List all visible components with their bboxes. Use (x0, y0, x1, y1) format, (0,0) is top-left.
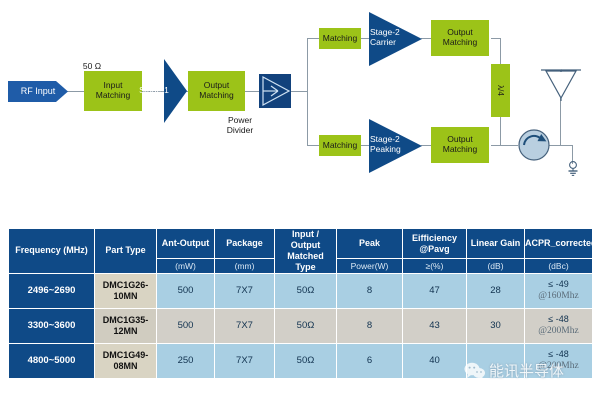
stage2-carrier-amplifier (368, 11, 424, 67)
ground-block (566, 160, 580, 178)
output-matching-carrier-label: Output Matching (443, 28, 478, 47)
table-row: 3300~3600 DMC1G35-12MN 500 7X7 50Ω 8 43 … (9, 308, 593, 343)
output-matching-peaking-label: Output Matching (443, 135, 478, 154)
output-matching-carrier-block: Output Matching (431, 20, 489, 56)
th-part-type: Part Type (95, 229, 157, 274)
header-row-main: Frequency (MHz) Part Type Ant-Output Pac… (9, 229, 593, 259)
stage2-carrier-triangle-icon (368, 11, 424, 67)
cell-part-type: DMC1G35-12MN (95, 308, 157, 343)
table-row: 2496~2690 DMC1G26-10MN 500 7X7 50Ω 8 47 … (9, 273, 593, 308)
power-divider-block (259, 74, 291, 108)
th-acpr: ACPR_corrected (525, 229, 593, 259)
th-unit-acpr: (dBc) (525, 259, 593, 274)
matching-bottom-label: Matching (323, 141, 358, 151)
cell-package: 7X7 (215, 343, 275, 378)
wire-outmatch-to-divider (244, 91, 260, 92)
cell-peak-power: 6 (337, 343, 403, 378)
power-divider-icon (259, 74, 291, 108)
acpr-offset: @160Mhz (525, 291, 592, 303)
th-peak: Peak (337, 229, 403, 259)
acpr-value: ≤ -48 (525, 349, 592, 360)
wire-quarter-bottom-stub (500, 116, 501, 145)
th-unit-peak: Power(W) (337, 259, 403, 274)
cell-matched-type: 50Ω (275, 273, 337, 308)
stage1-triangle-icon (120, 58, 188, 124)
antenna-icon (540, 68, 582, 102)
wire-split-bottom (307, 145, 319, 146)
cell-frequency: 4800~5000 (9, 343, 95, 378)
rf-input-label: RF Input (21, 86, 56, 96)
antenna-block (540, 68, 582, 102)
output-matching-stage1-block: Output Matching (188, 71, 245, 111)
block-diagram: RF Input 50 Ω Input Matching Stage-1 Out… (0, 0, 600, 218)
cell-package: 7X7 (215, 273, 275, 308)
wire-split-top (307, 38, 319, 39)
cell-acpr: ≤ -49 @160Mhz (525, 273, 593, 308)
matching-top-label: Matching (323, 34, 358, 44)
cell-efficiency: 40 (403, 343, 467, 378)
cell-linear-gain (467, 343, 525, 378)
stage2-peaking-triangle-icon (368, 118, 424, 174)
cell-part-type: DMC1G26-10MN (95, 273, 157, 308)
quarter-wave-label: λ/4 (496, 85, 505, 96)
wire-outmatchpeak-to-circulator (491, 145, 518, 146)
specs-table-wrapper: Frequency (MHz) Part Type Ant-Output Pac… (8, 228, 592, 379)
th-linear-gain: Linear Gain (467, 229, 525, 259)
stage2-peaking-amplifier (368, 118, 424, 174)
cell-ant-output: 250 (157, 343, 215, 378)
th-frequency: Frequency (MHz) (9, 229, 95, 274)
cell-acpr: ≤ -48 @200Mhz (525, 343, 593, 378)
output-matching-peaking-block: Output Matching (431, 127, 489, 163)
circulator-icon (517, 128, 551, 162)
quarter-wave-block: λ/4 (491, 64, 510, 117)
cell-peak-power: 8 (337, 308, 403, 343)
cell-frequency: 2496~2690 (9, 273, 95, 308)
cell-matched-type: 50Ω (275, 343, 337, 378)
th-unit-linear-gain: (dB) (467, 259, 525, 274)
stage1-amplifier (120, 58, 188, 124)
wire-quarter-top-stub (500, 38, 501, 64)
th-unit-ant-output: (mW) (157, 259, 215, 274)
acpr-value: ≤ -49 (525, 279, 592, 290)
table-body: 2496~2690 DMC1G26-10MN 500 7X7 50Ω 8 47 … (9, 273, 593, 378)
th-ant-output: Ant-Output (157, 229, 215, 259)
cell-frequency: 3300~3600 (9, 308, 95, 343)
wire-divider-out (290, 91, 308, 92)
cell-efficiency: 47 (403, 273, 467, 308)
acpr-offset: @200Mhz (525, 326, 592, 338)
th-unit-package: (mm) (215, 259, 275, 274)
cell-acpr: ≤ -48 @200Mhz (525, 308, 593, 343)
cell-efficiency: 43 (403, 308, 467, 343)
cell-peak-power: 8 (337, 273, 403, 308)
power-divider-label: Power Divider (195, 116, 285, 136)
table-row: 4800~5000 DMC1G49-08MN 250 7X7 50Ω 6 40 … (9, 343, 593, 378)
acpr-offset: @200Mhz (525, 361, 592, 373)
rf-input-block: RF Input (8, 81, 68, 102)
cell-package: 7X7 (215, 308, 275, 343)
cell-part-type: DMC1G49-08MN (95, 343, 157, 378)
th-matched-type: Input / Output Matched Type (275, 229, 337, 274)
acpr-value: ≤ -48 (525, 314, 592, 325)
cell-ant-output: 500 (157, 308, 215, 343)
table-header: Frequency (MHz) Part Type Ant-Output Pac… (9, 229, 593, 274)
th-unit-efficiency: ≥(%) (403, 259, 467, 274)
cell-linear-gain: 28 (467, 273, 525, 308)
matching-bottom-block: Matching (319, 135, 361, 156)
th-package: Package (215, 229, 275, 259)
wire-rfin-to-inputmatch (66, 91, 84, 92)
cell-linear-gain: 30 (467, 308, 525, 343)
cell-ant-output: 500 (157, 273, 215, 308)
th-efficiency: Eifficiency @Pavg (403, 229, 467, 259)
wire-split-bus (307, 38, 308, 145)
specs-table: Frequency (MHz) Part Type Ant-Output Pac… (8, 228, 593, 379)
wire-antenna-feed (560, 98, 561, 145)
matching-top-block: Matching (319, 28, 361, 49)
circulator-block (517, 128, 551, 162)
cell-matched-type: 50Ω (275, 308, 337, 343)
ground-icon (566, 160, 580, 178)
output-matching-stage1-label: Output Matching (199, 81, 234, 100)
